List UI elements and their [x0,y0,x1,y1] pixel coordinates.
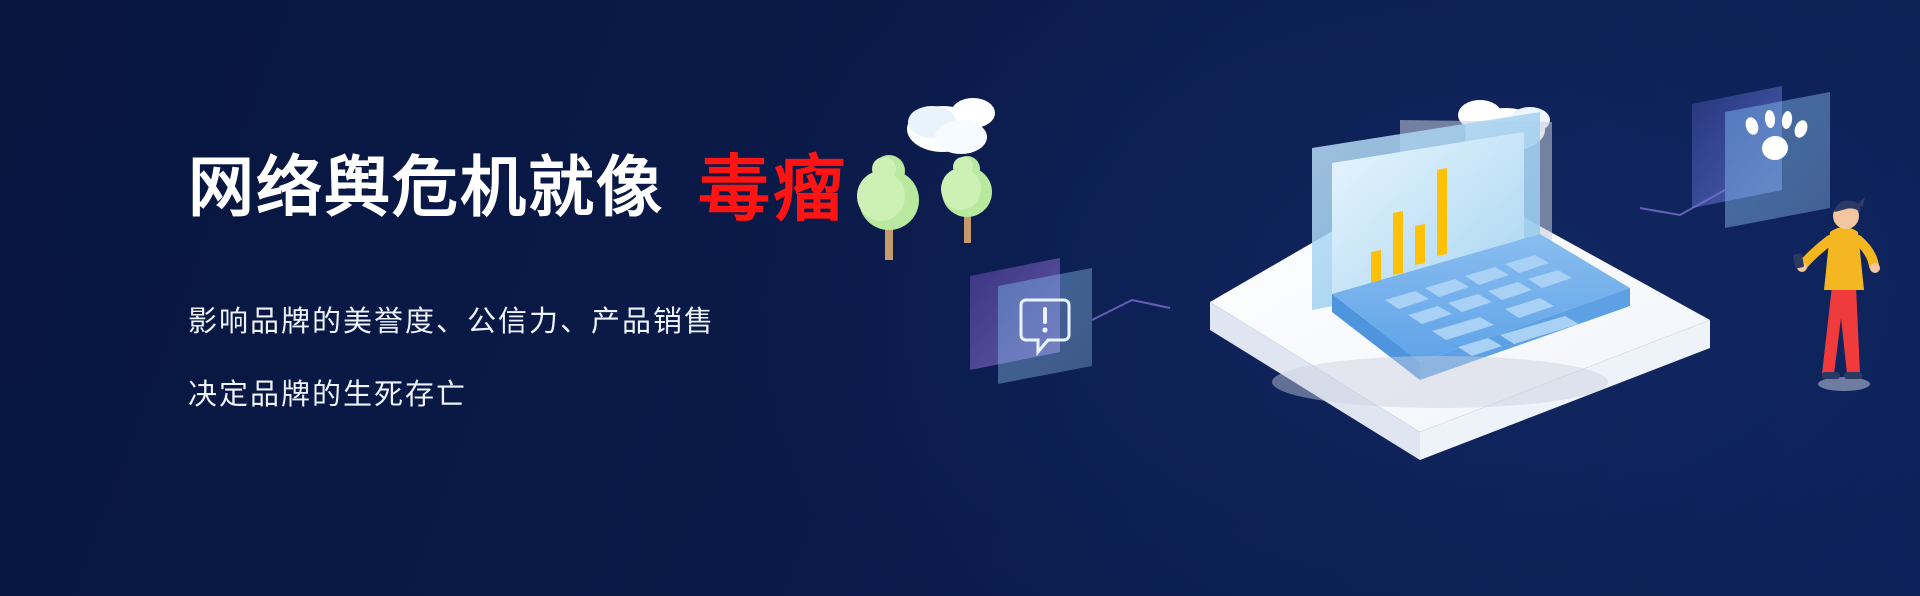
person [1793,197,1880,391]
exclamation-mark-icon [1042,307,1047,333]
tree-tall-icon [857,155,919,260]
hero-banner: 网络舆危机就像 毒瘤 影响品牌的美誉度、公信力、产品销售 决定品牌的生死存亡 [0,0,1920,596]
alert-panel [970,258,1170,384]
subtitle-line-1: 影响品牌的美誉度、公信力、产品销售 [188,308,948,337]
tree-short-icon [941,156,992,243]
headline-red-text: 毒瘤 [698,154,848,226]
subtitle-line-2: 决定品牌的生死存亡 [188,381,948,410]
illustration [840,0,1920,596]
paw-panel [1640,86,1830,228]
copy-block: 网络舆危机就像 毒瘤 影响品牌的美誉度、公信力、产品销售 决定品牌的生死存亡 [188,150,948,410]
headline: 网络舆危机就像 毒瘤 [188,150,948,222]
cloud-left-icon [907,98,995,154]
headline-white-text: 网络舆危机就像 [188,154,664,220]
